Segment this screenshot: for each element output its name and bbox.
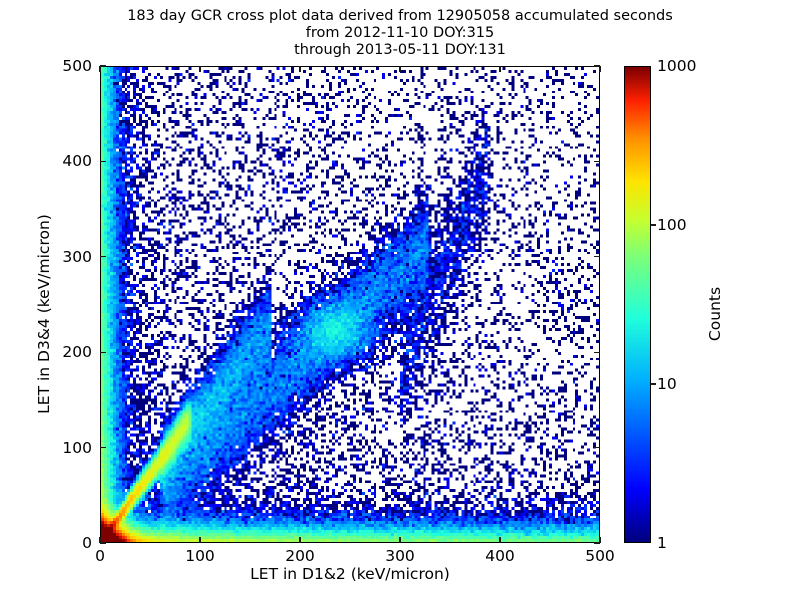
y-tick-label: 500 bbox=[4, 57, 92, 75]
x-tick-label: 400 bbox=[485, 547, 515, 565]
x-tick bbox=[499, 537, 500, 543]
y-tick bbox=[594, 161, 600, 162]
x-tick bbox=[299, 66, 300, 72]
y-tick bbox=[100, 447, 106, 448]
y-tick bbox=[594, 447, 600, 448]
y-tick-label: 400 bbox=[4, 152, 92, 170]
colorbar-tick-label: 10 bbox=[657, 375, 677, 393]
x-tick-label: 0 bbox=[95, 547, 105, 565]
density-heatmap bbox=[101, 67, 599, 542]
colorbar-tick bbox=[651, 383, 656, 384]
colorbar bbox=[624, 66, 651, 543]
x-tick bbox=[399, 537, 400, 543]
y-tick bbox=[100, 256, 106, 257]
plot-title: 183 day GCR cross plot data derived from… bbox=[0, 8, 800, 59]
x-tick bbox=[399, 66, 400, 72]
x-tick-label: 100 bbox=[185, 547, 215, 565]
colorbar-tick bbox=[651, 224, 656, 225]
colorbar-tick-label: 1000 bbox=[657, 57, 696, 75]
x-tick-label: 300 bbox=[385, 547, 415, 565]
x-tick bbox=[599, 66, 600, 72]
colorbar-gradient bbox=[625, 67, 650, 542]
y-tick bbox=[594, 542, 600, 543]
y-tick bbox=[100, 65, 106, 66]
y-tick-label: 0 bbox=[4, 534, 92, 552]
x-tick bbox=[199, 537, 200, 543]
x-axis-label: LET in D1&2 (keV/micron) bbox=[100, 565, 600, 583]
colorbar-tick-label: 100 bbox=[657, 216, 687, 234]
y-axis-label: LET in D3&4 (keV/micron) bbox=[35, 184, 53, 444]
y-tick bbox=[100, 542, 106, 543]
x-tick bbox=[99, 66, 100, 72]
figure-canvas: 183 day GCR cross plot data derived from… bbox=[0, 0, 800, 600]
y-tick bbox=[594, 65, 600, 66]
title-line-2: from 2012-11-10 DOY:315 bbox=[0, 25, 800, 42]
title-line-1: 183 day GCR cross plot data derived from… bbox=[0, 8, 800, 25]
y-tick bbox=[594, 256, 600, 257]
x-tick bbox=[499, 66, 500, 72]
y-tick bbox=[100, 352, 106, 353]
colorbar-label: Counts bbox=[706, 224, 724, 404]
y-tick bbox=[594, 352, 600, 353]
x-tick-label: 200 bbox=[285, 547, 315, 565]
plot-area bbox=[100, 66, 600, 543]
x-tick-label: 500 bbox=[585, 547, 615, 565]
x-tick bbox=[199, 66, 200, 72]
x-tick bbox=[299, 537, 300, 543]
colorbar-tick-label: 1 bbox=[657, 534, 667, 552]
y-tick bbox=[100, 161, 106, 162]
